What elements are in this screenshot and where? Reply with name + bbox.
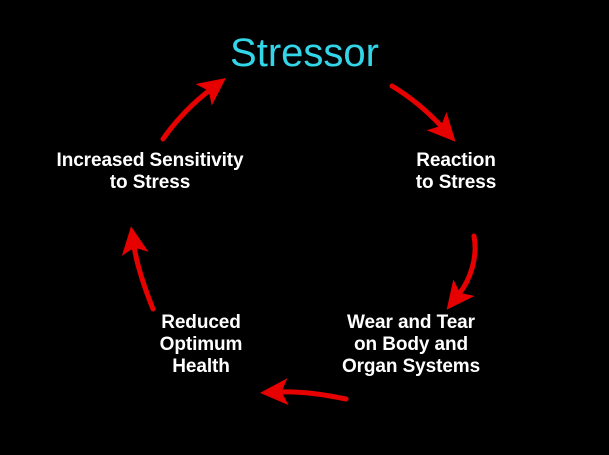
arrow-reaction-to-wear-tear bbox=[459, 236, 475, 294]
node-label-increased-sensitivity: Increased Sensitivity to Stress bbox=[28, 150, 272, 194]
arrow-wear-tear-to-reduced-health bbox=[280, 392, 346, 399]
node-label-stressor: Stressor bbox=[0, 30, 609, 76]
stress-cycle-diagram: Stressor Reaction to Stress Wear and Tea… bbox=[0, 0, 609, 455]
arrow-increased-sensitivity-to-stressor bbox=[163, 90, 210, 139]
node-label-reaction-to-stress: Reaction to Stress bbox=[388, 150, 524, 194]
arrow-reduced-health-to-increased-sensitivity bbox=[134, 246, 153, 309]
node-label-wear-and-tear: Wear and Tear on Body and Organ Systems bbox=[326, 312, 496, 378]
arrow-stressor-to-reaction bbox=[392, 86, 442, 127]
node-label-reduced-optimum-health: Reduced Optimum Health bbox=[134, 312, 268, 378]
